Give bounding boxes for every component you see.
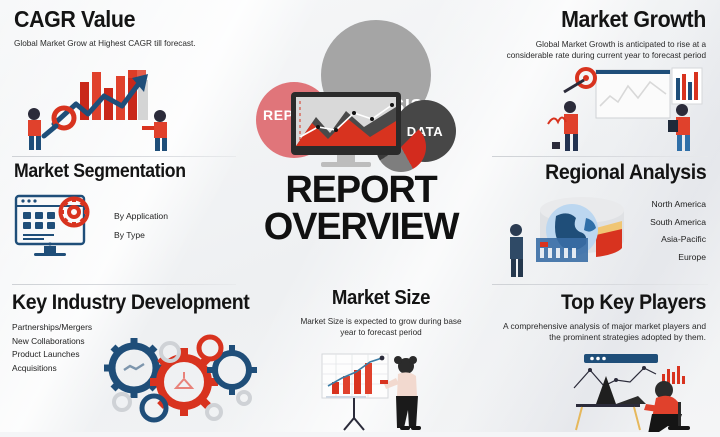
monitor-graphic [291,92,401,170]
segmentation-items: By Application By Type [114,207,168,246]
segmentation-title: Market Segmentation [14,162,186,181]
panel-cagr-value: CAGR Value Global Market Grow at Highest… [14,8,196,49]
cagr-title: CAGR Value [14,8,183,31]
market-size-illustration [318,352,448,432]
center-hero: ANALYSIS REPORT DATA [236,4,486,280]
gears-icon [92,330,272,430]
presentation-graphic [540,62,710,152]
cagr-chart-graphic [18,62,178,152]
panel-market-size: Market Size Market Size is expected to g… [296,288,466,338]
panel-market-growth: Market Growth Global Market Growth is an… [496,8,706,61]
divider-right-upper [492,156,708,157]
divider-left-upper [12,156,236,157]
cagr-subtitle: Global Market Grow at Highest CAGR till … [14,38,196,49]
screen-chart-graphic [296,97,396,146]
globe-graphic [500,188,640,278]
market-size-title: Market Size [302,288,460,308]
cagr-illustration [18,62,178,152]
region-item: North America [650,196,706,214]
segmentation-illustration [14,192,114,262]
monitor-screen [296,97,396,146]
region-item: Europe [650,249,706,267]
segmentation-item: By Application [114,207,168,226]
regional-analysis-regions: North America South America Asia-Pacific… [650,196,706,266]
page-title: REPORT OVERVIEW [236,172,486,246]
analyst-desk-graphic [560,352,716,432]
infographic-canvas: CAGR Value Global Market Grow at Highest… [0,0,720,432]
divider-right-lower [492,284,708,285]
panel-top-key-players: Top Key Players A comprehensive analysis… [494,292,706,344]
panel-regional-analysis: Regional Analysis [533,162,706,183]
headline-line-2: OVERVIEW [236,209,486,246]
top-key-players-title: Top Key Players [509,292,706,313]
top-key-players-illustration [560,352,716,432]
top-key-players-subtitle: A comprehensive analysis of major market… [494,321,706,344]
market-growth-subtitle: Global Market Growth is anticipated to r… [496,39,706,61]
segmentation-item: By Type [114,226,168,245]
regional-analysis-title: Regional Analysis [545,162,706,183]
divider-left-lower [12,284,236,285]
gears-illustration [92,330,272,430]
key-industry-title: Key Industry Development [12,292,249,313]
panel-market-segmentation: Market Segmentation [14,162,199,181]
monitor-gear-icon [14,192,114,262]
region-item: South America [650,214,706,232]
market-size-subtitle: Market Size is expected to grow during b… [296,316,466,338]
regional-analysis-illustration [500,188,640,278]
market-growth-illustration [540,62,710,152]
market-growth-title: Market Growth [511,8,706,31]
region-item: Asia-Pacific [650,231,706,249]
monitor-base [321,162,371,167]
flipchart-graphic [318,352,448,432]
headline-line-1: REPORT [236,172,486,209]
